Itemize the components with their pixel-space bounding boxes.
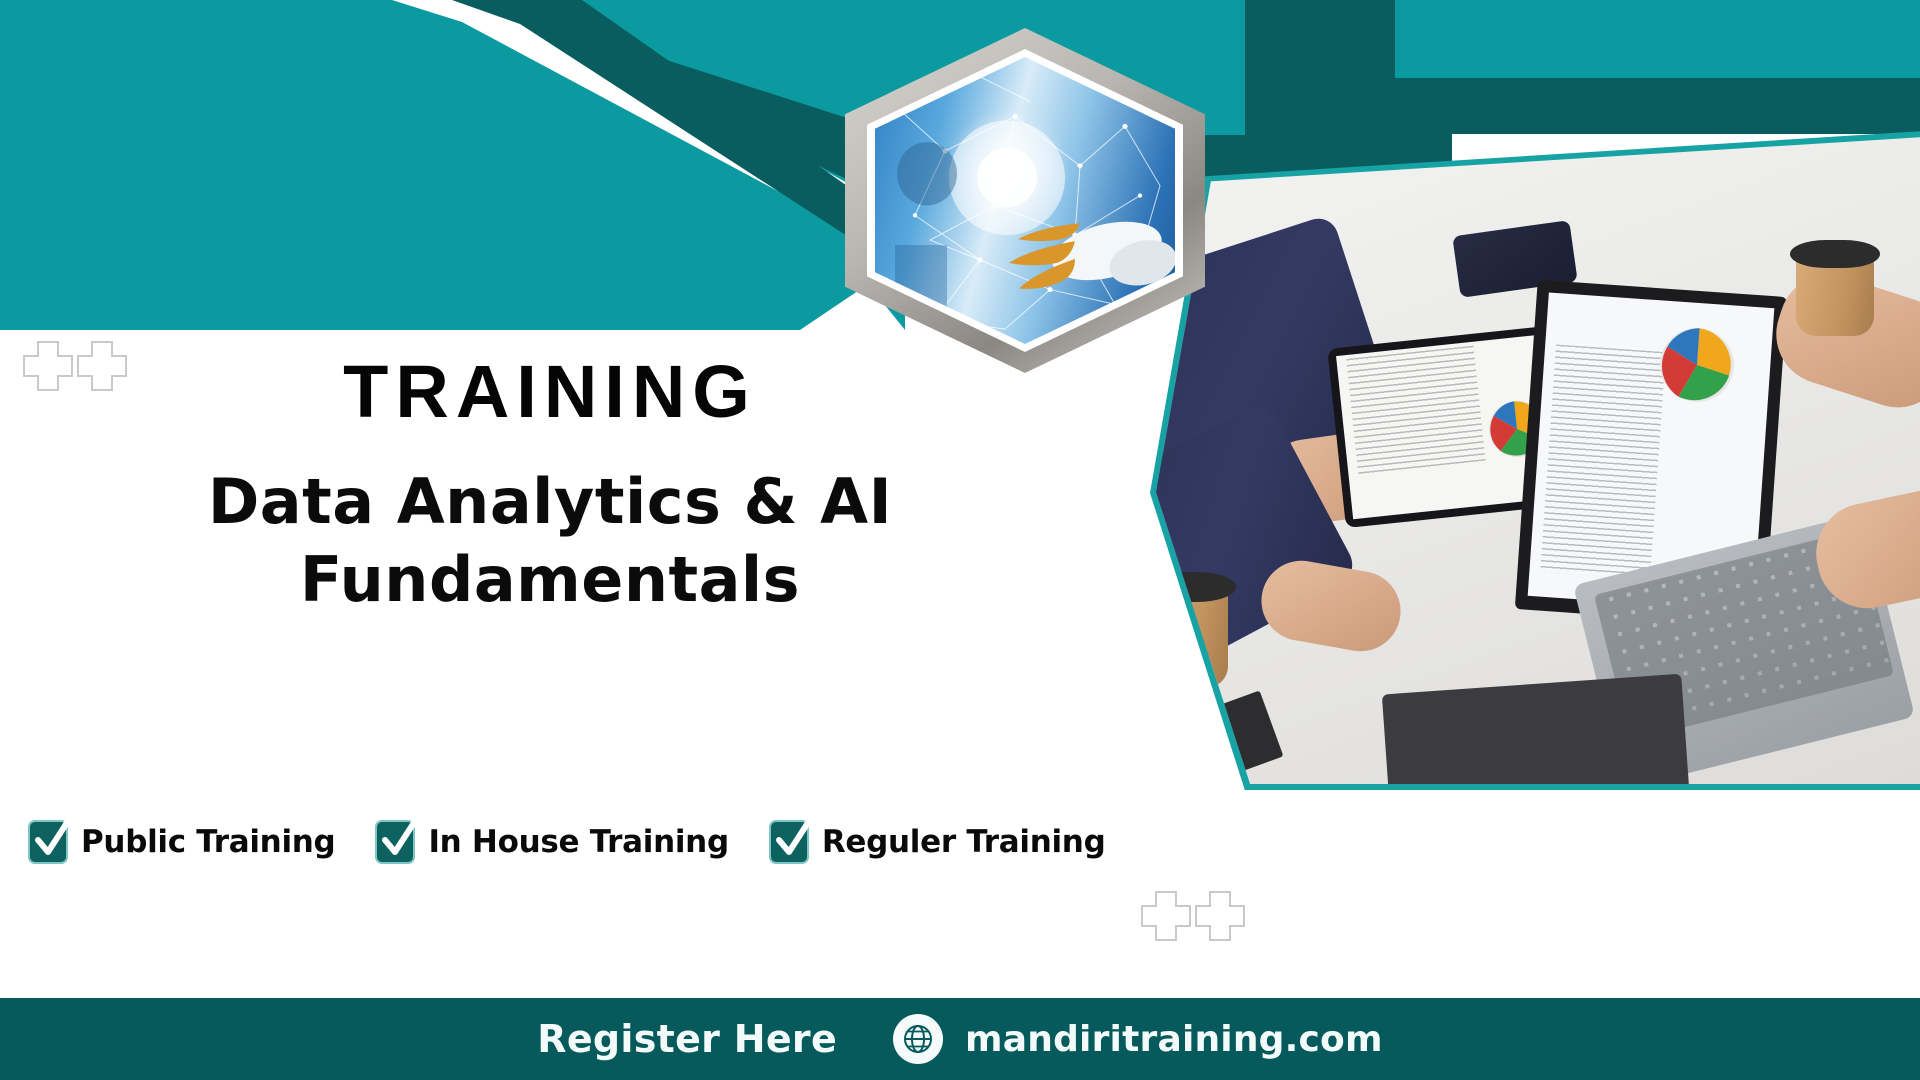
footer-bar: Register Here mandiritraining.com [0,998,1920,1080]
tablet-bottom [1382,674,1690,784]
notebook [1156,690,1283,784]
cross-outline-icon [1140,890,1192,942]
tablet-screen-text [1346,346,1486,477]
meeting-photo-panel [1150,130,1920,790]
person-left-lower-hand [1255,554,1407,657]
feature-in-house-training[interactable]: In House Training [375,820,728,864]
feature-label: Reguler Training [822,824,1106,860]
headline-line-1: Data Analytics & AI [0,463,1100,541]
training-type-list: Public Training In House Training Regule… [28,820,1105,864]
kicker-training: TRAINING [0,355,1100,429]
checkbox-checked-icon[interactable] [769,820,809,864]
laptop-pie-chart [1653,321,1741,409]
checkmark-glyph [30,816,74,864]
website-url-text: mandiritraining.com [965,1019,1383,1060]
training-promo-banner: TRAINING Data Analytics & AI Fundamental… [0,0,1920,1080]
globe-glyph [901,1022,935,1056]
headline-block: TRAINING Data Analytics & AI Fundamental… [0,355,1100,618]
checkmark-glyph [377,816,421,864]
coffee-cup-bottom [1156,588,1228,688]
feature-label: In House Training [428,824,728,860]
meeting-photo [1156,136,1920,784]
cross-outline-icon [1194,890,1246,942]
feature-label: Public Training [81,824,335,860]
feature-reguler-training[interactable]: Reguler Training [769,820,1106,864]
register-here-cta[interactable]: Register Here [537,1017,837,1061]
checkbox-checked-icon[interactable] [375,820,415,864]
ai-hexagon-image [845,28,1205,373]
coffee-cup-top-lid [1790,240,1880,268]
checkmark-glyph [771,816,815,864]
coffee-cup-bottom-lid [1156,572,1236,602]
laptop-screen-text [1540,344,1666,579]
website-link[interactable]: mandiritraining.com [893,1014,1383,1064]
headline-line-2: Fundamentals [0,541,1100,619]
checkbox-checked-icon[interactable] [28,820,68,864]
globe-icon [893,1014,943,1064]
feature-public-training[interactable]: Public Training [28,820,335,864]
decorative-cross-group-bottom [1140,890,1246,942]
